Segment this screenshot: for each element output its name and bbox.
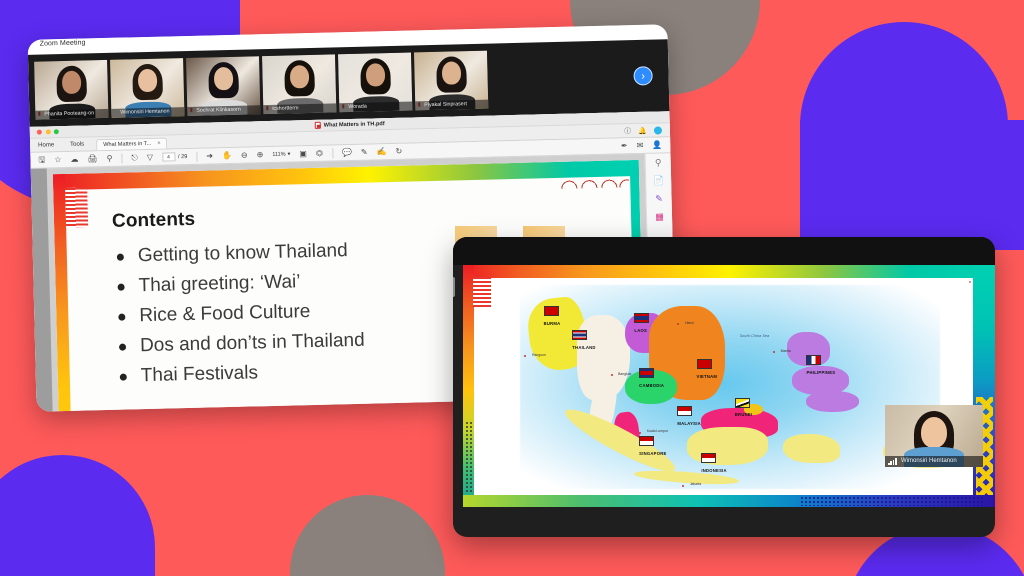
map-slide-left-dots	[465, 421, 473, 493]
close-tab-icon[interactable]: ×	[157, 140, 161, 146]
country-flag-icon	[735, 398, 750, 408]
page-indicator[interactable]: 4 / 29	[162, 152, 188, 162]
sign-icon[interactable]: ✒	[621, 142, 628, 150]
bell-icon[interactable]: 🔔	[638, 127, 647, 134]
window-resize-handle[interactable]	[453, 277, 455, 297]
maximize-window-button[interactable]	[54, 129, 59, 134]
country-label: VIETNAM	[697, 374, 718, 379]
background-shape-grey-bottom	[290, 495, 445, 576]
comment-icon[interactable]: 💬	[342, 148, 352, 156]
print-icon[interactable]: 🖨	[87, 155, 97, 163]
city-marker	[773, 351, 775, 353]
toolbar-divider-3	[332, 148, 333, 158]
minimize-window-button[interactable]	[45, 129, 50, 134]
pdf-file-icon	[315, 122, 321, 129]
zoom-level-value: 111%	[272, 151, 285, 157]
country-label: PHILIPPINES	[806, 370, 835, 375]
landmass-philippines-mindanao	[806, 391, 859, 412]
country-label: BRUNEI	[735, 412, 753, 417]
country-label: SINGAPORE	[639, 451, 666, 456]
participant-name-label: icshortterm	[263, 103, 336, 114]
zoom-in-icon[interactable]: ⊕	[257, 151, 264, 159]
share-person-icon[interactable]: 👤	[652, 141, 662, 149]
next-participants-button[interactable]: ›	[633, 66, 652, 85]
acrobat-document-title: What Matters in TH.pdf	[315, 120, 385, 129]
city-label: Hanoi	[685, 321, 694, 325]
participant-name-label: Worada	[339, 101, 412, 112]
menu-tools[interactable]: Tools	[62, 141, 92, 151]
country-label: LAOS	[634, 328, 647, 333]
acrobat-toolbar-right[interactable]: ✒ ✉ 👤	[621, 141, 663, 150]
country-label: CAMBODIA	[639, 383, 664, 388]
map-slide-bottom-dots	[800, 496, 985, 506]
map-slide-stripe-decoration	[473, 277, 491, 307]
rotate-icon[interactable]: ↻	[395, 147, 402, 155]
participant-face	[137, 69, 157, 92]
city-label: Kuala Lumpur	[647, 429, 668, 433]
presenter-name-label: Wimonsiri Hemtanon	[885, 456, 983, 467]
export-pdf-icon[interactable]: 📄	[653, 175, 664, 186]
city-label: Manila	[781, 349, 791, 353]
participant-face	[61, 71, 81, 94]
city-label: Rangoon	[532, 353, 546, 357]
participant-name-label: Phanita Pooteang-on	[35, 109, 108, 120]
participant-tile[interactable]: Phanita Pooteang-on	[34, 60, 108, 120]
page-number-input[interactable]: 4	[162, 152, 175, 161]
hand-icon[interactable]: ✋	[222, 151, 232, 159]
toolbar-divider-2	[196, 151, 197, 161]
city-label: Bangkok	[618, 372, 631, 376]
slide-arc-decoration	[559, 174, 629, 189]
signal-bars-icon	[888, 458, 897, 465]
fit-page-icon[interactable]: ▣	[299, 150, 307, 158]
participant-face	[365, 63, 385, 86]
edit-pdf-icon[interactable]: ✎	[655, 193, 663, 204]
zoom-out-icon[interactable]: ⊖	[241, 151, 248, 159]
chevron-down-icon[interactable]: ▾	[288, 151, 291, 157]
country-flag-icon	[806, 355, 821, 365]
fit-width-icon[interactable]: ⏣	[316, 149, 323, 157]
help-icon[interactable]: ⓘ	[624, 128, 631, 135]
presenter-face	[921, 417, 947, 448]
country-flag-icon	[697, 359, 712, 369]
participant-face	[289, 65, 309, 88]
presenter-video-thumbnail[interactable]: Wimonsiri Hemtanon	[885, 405, 983, 467]
participant-tile[interactable]: Piyakal Sinprasert	[414, 51, 488, 111]
account-avatar[interactable]	[654, 126, 662, 134]
participant-tile[interactable]: Wimonsiri Hemtanon	[110, 58, 184, 118]
participant-name-label: Wimonsiri Hemtanon	[111, 107, 184, 118]
country-flag-icon	[634, 313, 649, 323]
country-label: THAILAND	[572, 345, 595, 350]
country-label: INDONESIA	[701, 468, 727, 473]
participant-tile[interactable]: Worada	[338, 53, 412, 113]
country-flag-icon	[677, 406, 692, 416]
chevron-right-icon: ›	[641, 70, 645, 82]
shared-screen-topbar	[453, 237, 995, 265]
background-shape-purple-bottom-left	[0, 455, 155, 576]
country-flag-icon	[701, 453, 716, 463]
city-marker	[639, 432, 641, 434]
toolbar-divider	[121, 153, 122, 163]
page-total-label: / 29	[178, 154, 187, 160]
zoom-level-selector[interactable]: 111% ▾	[272, 151, 290, 157]
document-tab[interactable]: What Matters in T... ×	[96, 137, 167, 150]
acrobat-header-right-icons[interactable]: ⓘ 🔔	[624, 126, 662, 135]
menu-home[interactable]: Home	[30, 142, 62, 152]
map-slide: BURMALAOSTHAILANDVIETNAMCAMBODIAMALAYSIA…	[463, 265, 995, 507]
landmass-borneo-indonesia	[687, 427, 768, 465]
sea-label: South China Sea	[740, 334, 770, 338]
next-page-icon[interactable]: ▽	[147, 153, 153, 161]
acrobat-document-title-text: What Matters in TH.pdf	[324, 121, 385, 128]
country-flag-icon	[544, 306, 559, 316]
close-window-button[interactable]	[37, 130, 42, 135]
slide-stripe-decoration	[65, 187, 88, 228]
participant-face	[441, 61, 461, 84]
shared-screen-window[interactable]: BURMALAOSTHAILANDVIETNAMCAMBODIAMALAYSIA…	[453, 237, 995, 537]
organize-pages-icon[interactable]: ▦	[655, 211, 664, 222]
background-shape-purple-top-right-fill	[800, 120, 1024, 250]
country-flag-icon	[572, 330, 587, 340]
signature-icon[interactable]: ✍	[376, 148, 386, 156]
document-tab-label: What Matters in T...	[103, 140, 151, 147]
city-marker	[611, 374, 613, 376]
select-cursor-icon[interactable]: ➔	[206, 152, 213, 160]
star-icon[interactable]: ☆	[54, 156, 61, 164]
landmass-sulawesi	[783, 434, 840, 464]
email-icon[interactable]: ✉	[637, 141, 644, 149]
participant-face	[213, 67, 233, 90]
save-icon[interactable]: 🖫	[38, 156, 45, 164]
city-marker	[682, 485, 684, 487]
window-traffic-lights[interactable]	[37, 129, 59, 135]
country-flag-icon	[639, 368, 654, 378]
highlight-icon[interactable]: ✎	[361, 148, 368, 156]
country-label: BURMA	[544, 321, 561, 326]
search-tool-icon[interactable]: ⚲	[655, 157, 662, 168]
search-icon[interactable]: ⚲	[107, 154, 113, 162]
shared-screen-stage: BURMALAOSTHAILANDVIETNAMCAMBODIAMALAYSIA…	[463, 265, 995, 507]
country-label: MALAYSIA	[677, 421, 700, 426]
zoom-window-title: Zoom Meeting	[40, 39, 86, 47]
previous-page-icon[interactable]: ⎋	[131, 154, 138, 162]
participant-tile[interactable]: icshortterm	[262, 54, 336, 114]
participant-name-label: Sochrat Klinkasorn	[187, 105, 260, 116]
country-flag-icon	[639, 436, 654, 446]
participant-tile[interactable]: Sochrat Klinkasorn	[186, 56, 260, 116]
participant-name-label: Piyakal Sinprasert	[415, 100, 488, 111]
city-label: Jakarta	[690, 482, 701, 486]
cloud-upload-icon[interactable]: ☁	[70, 155, 78, 163]
